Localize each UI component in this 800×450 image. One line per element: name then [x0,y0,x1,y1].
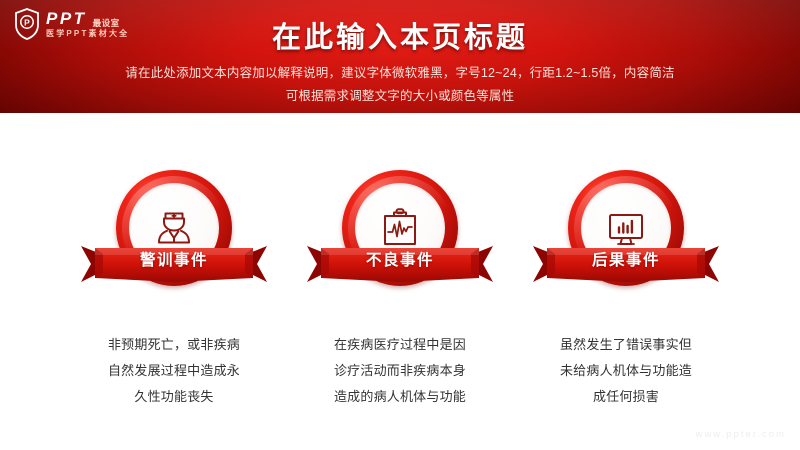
page-subtitle: 请在此处添加文本内容加以解释说明，建议字体微软雅黑，字号12~24，行距1.2~… [50,62,750,108]
body-line-2-1: 在疾病医疗过程中是因 [300,332,500,358]
body-text-2: 在疾病医疗过程中是因 诊疗活动而非疾病本身 造成的病人机体与功能 [300,332,500,410]
column-adverse-event: 不良事件 在疾病医疗过程中是因 诊疗活动而非疾病本身 造成的病人机体与功能 [287,170,513,410]
body-text-1: 非预期死亡，或非疾病 自然发展过程中造成永 久性功能丧失 [74,332,274,410]
body-line-3-2: 未给病人机体与功能造 [526,358,726,384]
ribbon-label-3: 后果事件 [533,242,719,276]
body-line-3-3: 成任何损害 [526,384,726,410]
content-columns: 警训事件 非预期死亡，或非疾病 自然发展过程中造成永 久性功能丧失 [0,170,800,410]
ribbon-label-1: 警训事件 [81,242,267,276]
body-line-2-2: 诊疗活动而非疾病本身 [300,358,500,384]
body-line-3-1: 虽然发生了错误事实但 [526,332,726,358]
body-line-2-3: 造成的病人机体与功能 [300,384,500,410]
slide: P PPT 最设室 医学PPT素材大全 在此输入本页标题 请在此处添加文本内容加… [0,0,800,450]
svg-text:P: P [24,17,30,27]
column-sentinel-event: 警训事件 非预期死亡，或非疾病 自然发展过程中造成永 久性功能丧失 [61,170,287,410]
column-consequence-event: 后果事件 虽然发生了错误事实但 未给病人机体与功能造 成任何损害 [513,170,739,410]
subtitle-line-1: 请在此处添加文本内容加以解释说明，建议字体微软雅黑，字号12~24，行距1.2~… [50,62,750,85]
logo-brand: PPT [46,10,87,27]
ribbon-3: 后果事件 [533,242,719,284]
body-line-1-2: 自然发展过程中造成永 [74,358,274,384]
body-line-1-3: 久性功能丧失 [74,384,274,410]
shield-icon: P [14,8,40,40]
badge-1[interactable]: 警训事件 [116,170,232,286]
body-line-1-1: 非预期死亡，或非疾病 [74,332,274,358]
brand-logo[interactable]: P PPT 最设室 医学PPT素材大全 [14,8,129,40]
logo-brand-cn: 最设室 [93,19,120,28]
ribbon-2: 不良事件 [307,242,493,284]
body-text-3: 虽然发生了错误事实但 未给病人机体与功能造 成任何损害 [526,332,726,410]
logo-tagline: 医学PPT素材大全 [46,30,129,38]
subtitle-line-2: 可根据需求调整文字的大小或颜色等属性 [50,85,750,108]
ribbon-1: 警训事件 [81,242,267,284]
ribbon-label-2: 不良事件 [307,242,493,276]
logo-text-group: PPT 最设室 医学PPT素材大全 [46,10,129,38]
badge-2[interactable]: 不良事件 [342,170,458,286]
watermark: www.ppter.com [696,429,786,440]
badge-3[interactable]: 后果事件 [568,170,684,286]
